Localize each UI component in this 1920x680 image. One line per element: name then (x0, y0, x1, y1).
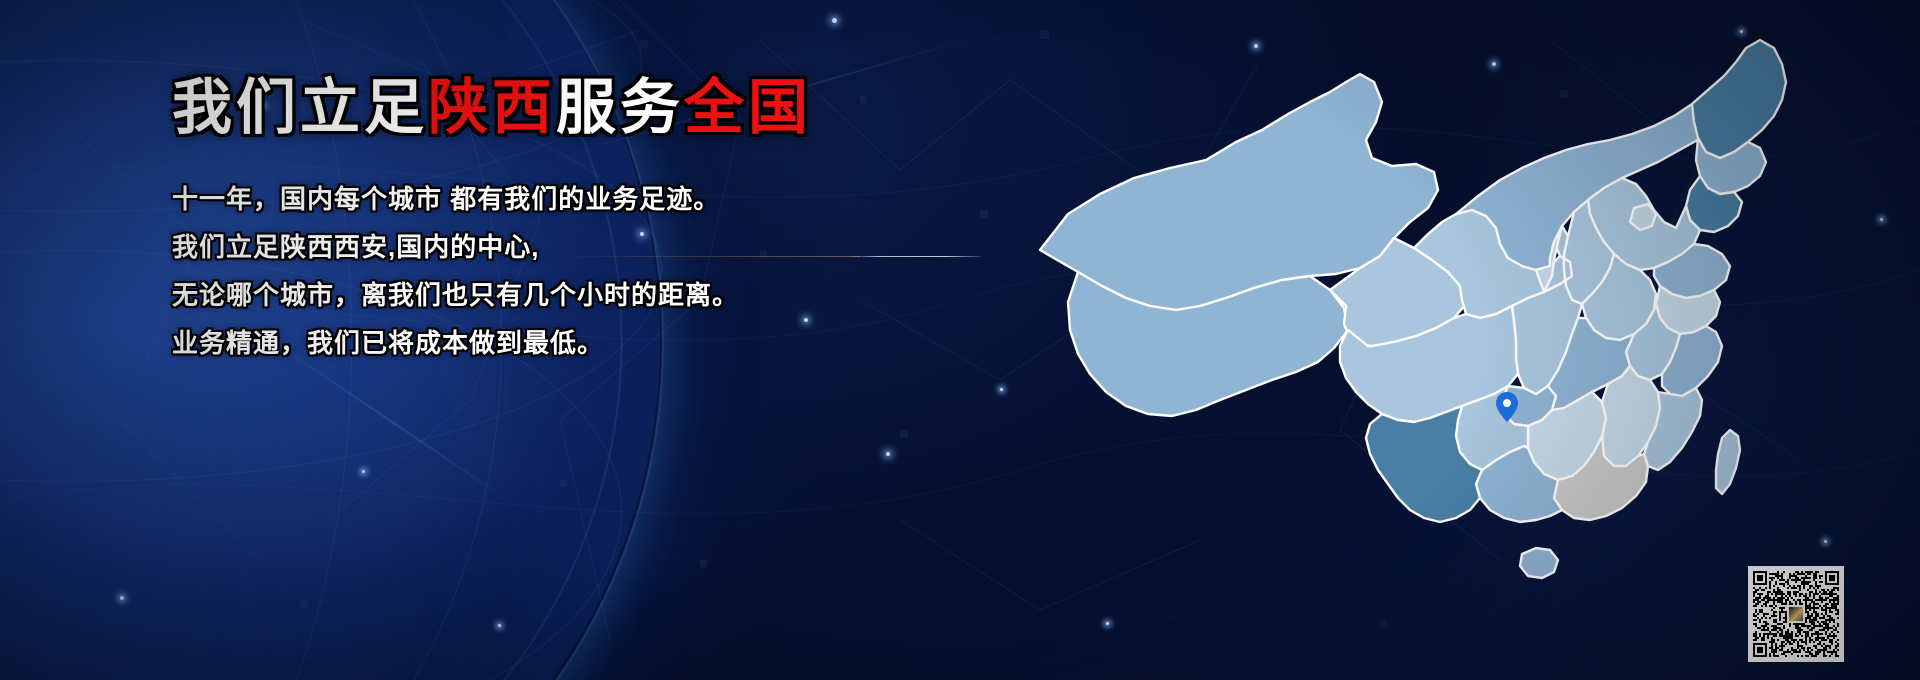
province-heilongjiang (1692, 40, 1786, 158)
banner-stage: 我们立足陕西服务全国 十一年，国内每个城市 都有我们的业务足迹。 我们立足陕西西… (0, 0, 1920, 680)
subtext-block: 十一年，国内每个城市 都有我们的业务足迹。 我们立足陕西西安,国内的中心, 无论… (172, 182, 912, 362)
copy-block: 我们立足陕西服务全国 十一年，国内每个城市 都有我们的业务足迹。 我们立足陕西西… (172, 78, 912, 374)
china-map-svg (1030, 18, 1840, 618)
divider-line-faint (560, 256, 860, 257)
divider-line (846, 256, 980, 257)
china-map (1030, 18, 1840, 618)
headline-segment-1: 我们立足 (172, 74, 428, 141)
headline-segment-4: 全国 (684, 74, 812, 141)
headline-segment-3: 服务 (556, 74, 684, 141)
subtext-line-2: 我们立足陕西西安,国内的中心, (172, 230, 912, 266)
headline-segment-2: 陕西 (428, 74, 556, 141)
wechat-qr-code[interactable] (1748, 566, 1844, 662)
subtext-line-4: 业务精通，我们已将成本做到最低。 (172, 326, 912, 362)
subtext-line-1: 十一年，国内每个城市 都有我们的业务足迹。 (172, 182, 912, 218)
page-title: 我们立足陕西服务全国 (172, 78, 912, 138)
location-pin-icon[interactable] (1496, 392, 1518, 422)
province-beijing (1630, 204, 1656, 230)
subtext-line-3: 无论哪个城市，离我们也只有几个小时的距离。 (172, 278, 912, 314)
province-hainan (1520, 548, 1558, 578)
province-taiwan (1716, 430, 1740, 494)
